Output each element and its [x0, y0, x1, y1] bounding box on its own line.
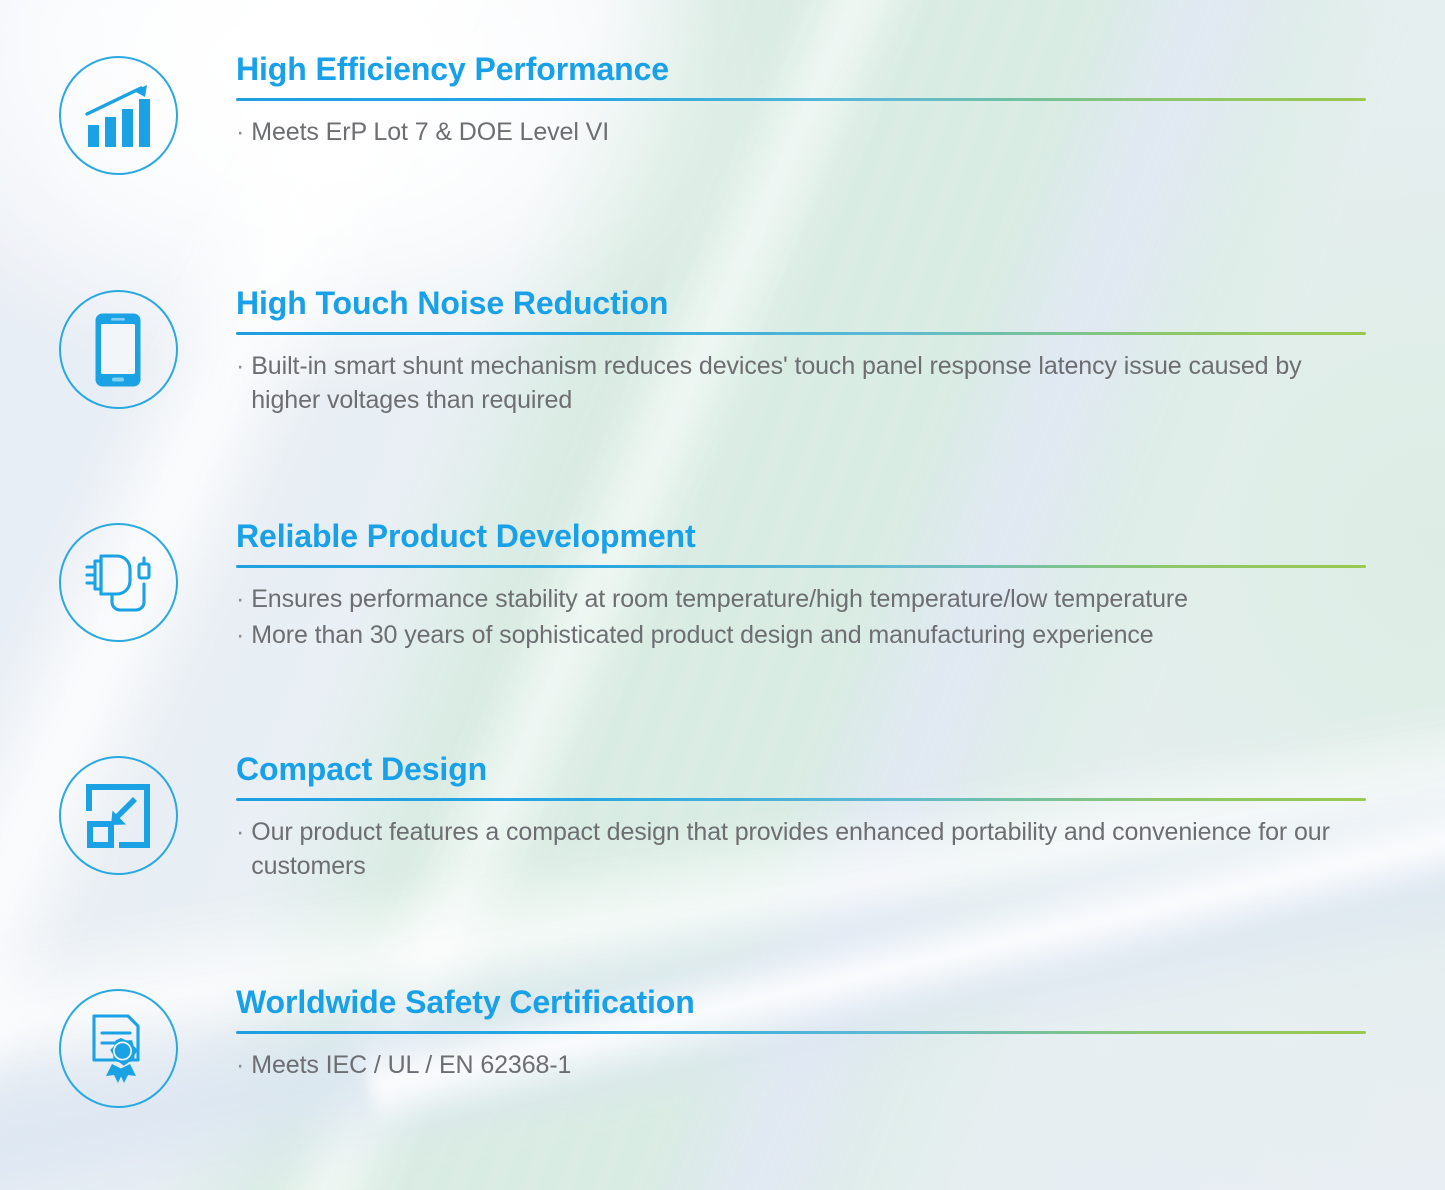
bullet-marker-icon: ·: [236, 618, 244, 652]
feature-item-high-touch-noise-reduction: High Touch Noise Reduction · Built-in sm…: [0, 286, 1445, 417]
compact-resize-icon: [59, 756, 178, 875]
feature-bullet-text: Built-in smart shunt mechanism reduces d…: [251, 349, 1366, 417]
feature-bullet: · Ensures performance stability at room …: [236, 582, 1366, 616]
feature-title: Reliable Product Development: [236, 519, 1366, 555]
bullet-marker-icon: ·: [236, 115, 244, 149]
feature-divider: [236, 1031, 1366, 1034]
bullet-marker-icon: ·: [236, 349, 244, 383]
feature-item-reliable-product-development: Reliable Product Development · Ensures p…: [0, 519, 1445, 652]
feature-bullet-list: · Meets IEC / UL / EN 62368-1: [236, 1048, 1366, 1082]
feature-text-block: High Touch Noise Reduction · Built-in sm…: [236, 286, 1445, 417]
feature-text-block: Compact Design · Our product features a …: [236, 752, 1445, 883]
feature-title: High Efficiency Performance: [236, 52, 1366, 88]
smartphone-icon: [59, 290, 178, 409]
feature-icon-container: [0, 286, 236, 409]
bullet-marker-icon: ·: [236, 815, 244, 849]
feature-divider: [236, 565, 1366, 568]
bar-chart-growth-icon: [59, 56, 178, 175]
feature-divider: [236, 332, 1366, 335]
feature-bullet-list: · Ensures performance stability at room …: [236, 582, 1366, 652]
feature-bullet: · Built-in smart shunt mechanism reduces…: [236, 349, 1366, 417]
feature-bullet-text: Meets IEC / UL / EN 62368-1: [251, 1048, 1366, 1082]
feature-text-block: Reliable Product Development · Ensures p…: [236, 519, 1445, 652]
feature-item-worldwide-safety-certification: Worldwide Safety Certification · Meets I…: [0, 985, 1445, 1108]
bullet-marker-icon: ·: [236, 582, 244, 616]
feature-bullet: · More than 30 years of sophisticated pr…: [236, 618, 1366, 652]
feature-icon-container: [0, 985, 236, 1108]
feature-bullet-list: · Built-in smart shunt mechanism reduces…: [236, 349, 1366, 417]
feature-bullet-text: More than 30 years of sophisticated prod…: [251, 618, 1366, 652]
feature-divider: [236, 798, 1366, 801]
feature-icon-container: [0, 752, 236, 875]
feature-list: High Efficiency Performance · Meets ErP …: [0, 0, 1445, 1190]
feature-bullet-text: Meets ErP Lot 7 & DOE Level VI: [251, 115, 1366, 149]
feature-bullet-list: · Meets ErP Lot 7 & DOE Level VI: [236, 115, 1366, 149]
feature-title: Worldwide Safety Certification: [236, 985, 1366, 1021]
feature-icon-container: [0, 519, 236, 642]
feature-text-block: Worldwide Safety Certification · Meets I…: [236, 985, 1445, 1082]
bullet-marker-icon: ·: [236, 1048, 244, 1082]
feature-divider: [236, 98, 1366, 101]
feature-item-compact-design: Compact Design · Our product features a …: [0, 752, 1445, 883]
feature-bullet: · Our product features a compact design …: [236, 815, 1366, 883]
feature-bullet: · Meets IEC / UL / EN 62368-1: [236, 1048, 1366, 1082]
feature-item-high-efficiency-performance: High Efficiency Performance · Meets ErP …: [0, 52, 1445, 175]
feature-bullet-text: Our product features a compact design th…: [251, 815, 1366, 883]
feature-bullet-list: · Our product features a compact design …: [236, 815, 1366, 883]
feature-title: Compact Design: [236, 752, 1366, 788]
feature-text-block: High Efficiency Performance · Meets ErP …: [236, 52, 1445, 149]
feature-title: High Touch Noise Reduction: [236, 286, 1366, 322]
certificate-award-icon: [59, 989, 178, 1108]
feature-bullet-text: Ensures performance stability at room te…: [251, 582, 1366, 616]
feature-bullet: · Meets ErP Lot 7 & DOE Level VI: [236, 115, 1366, 149]
feature-icon-container: [0, 52, 236, 175]
power-adapter-icon: [59, 523, 178, 642]
